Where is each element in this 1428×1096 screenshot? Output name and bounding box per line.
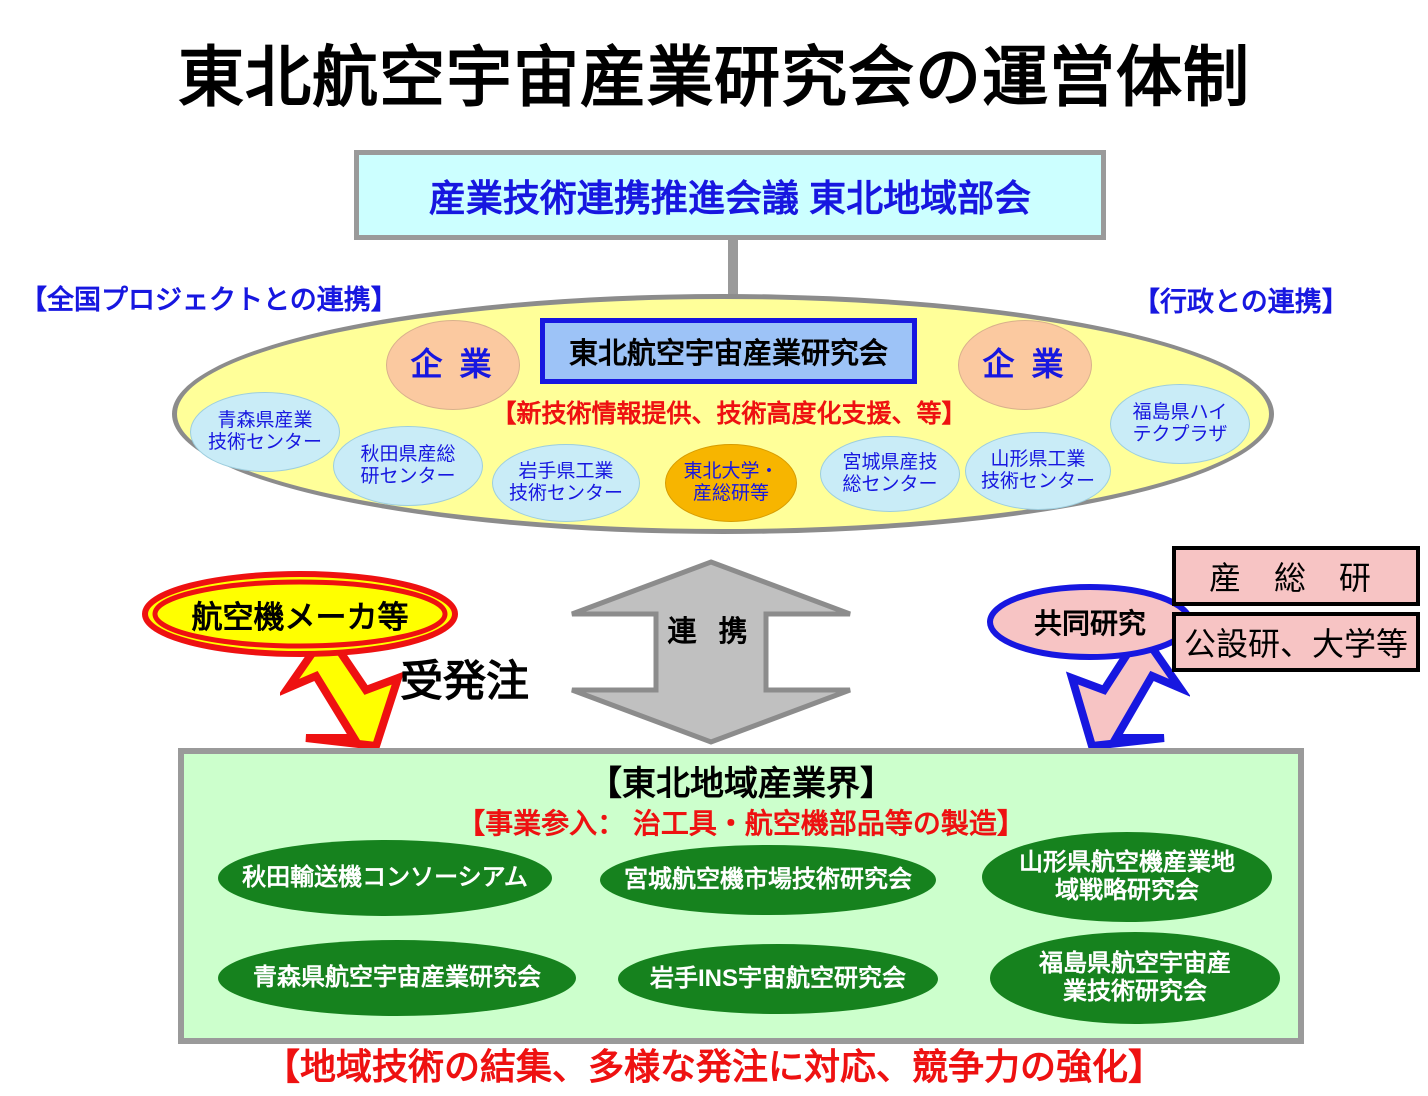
industry-group-label: 岩手INS宇宙航空研究会 xyxy=(650,965,906,993)
institution-line2: 産総研等 xyxy=(693,483,769,504)
institution-line1: 岩手県工業 xyxy=(518,461,613,482)
center-council-label: 東北航空宇宙産業研究会 xyxy=(569,330,888,372)
institution-line2: 技術センター xyxy=(509,483,623,504)
industry-group-iwate: 岩手INS宇宙航空研究会 xyxy=(618,944,938,1014)
institution-line1: 秋田県産総 xyxy=(360,444,455,465)
institution-ellipse-tohoku-university: 東北大学・ 産総研等 xyxy=(665,444,797,522)
public-institutes-box: 公設研、大学等 xyxy=(1172,612,1420,672)
center-council-box: 東北航空宇宙産業研究会 xyxy=(540,318,917,384)
top-council-label: 産業技術連携推進会議 東北地域部会 xyxy=(429,168,1031,222)
page-title: 東北航空宇宙産業研究会の運営体制 xyxy=(0,24,1428,120)
industry-group-line2: 業技術研究会 xyxy=(1063,978,1207,1005)
center-support-note: 【新技術情報提供、技術高度化支援、等】 xyxy=(456,394,1002,430)
aist-label: 産 総 研 xyxy=(1209,553,1383,599)
label-government-link: 【行政との連携】 xyxy=(1133,280,1349,319)
industry-group-line1: 山形県航空機産業地 xyxy=(1019,849,1235,876)
institution-label-yamagata: 山形県工業 技術センター xyxy=(981,449,1095,494)
institution-line2: テクプラザ xyxy=(1132,424,1227,445)
institution-line1: 東北大学・ xyxy=(683,461,778,482)
industry-group-line1: 福島県航空宇宙産 xyxy=(1039,950,1231,977)
institution-ellipse-miyagi: 宮城県産技 総センター xyxy=(820,436,960,512)
industry-group-yamagata: 山形県航空機産業地 域戦略研究会 xyxy=(982,832,1272,922)
institution-line1: 宮城県産技 xyxy=(842,452,937,473)
industry-group-label: 青森県航空宇宙産業研究会 xyxy=(253,964,541,992)
public-institutes-label: 公設研、大学等 xyxy=(1184,619,1408,665)
institution-label-tohoku: 東北大学・ 産総研等 xyxy=(683,461,778,506)
enterprise-label-left: 企 業 xyxy=(411,346,496,384)
liaison-arrow-label: 連 携 xyxy=(566,608,856,650)
industry-group-akita: 秋田輸送機コンソーシアム xyxy=(218,840,552,916)
industry-group-line2: 域戦略研究会 xyxy=(1055,877,1199,904)
institution-line1: 福島県ハイ xyxy=(1133,402,1228,423)
enterprise-label-right: 企 業 xyxy=(983,346,1068,384)
order-arrow-label: 受発注 xyxy=(400,647,529,709)
top-council-box: 産業技術連携推進会議 東北地域部会 xyxy=(354,150,1106,240)
liaison-double-arrow xyxy=(566,558,856,746)
industry-group-miyagi: 宮城航空機市場技術研究会 xyxy=(600,845,936,915)
institution-line1: 山形県工業 xyxy=(990,449,1085,470)
industry-group-label: 秋田輸送機コンソーシアム xyxy=(242,864,528,892)
diagram-canvas: 東北航空宇宙産業研究会の運営体制 産業技術連携推進会議 東北地域部会 【全国プロ… xyxy=(0,0,1428,1096)
institution-line2: 技術センター xyxy=(981,471,1095,492)
institution-ellipse-iwate: 岩手県工業 技術センター xyxy=(492,444,640,522)
institution-ellipse-akita: 秋田県産総 研センター xyxy=(333,426,483,506)
institution-line1: 青森県産業 xyxy=(217,410,312,431)
institution-line2: 研センター xyxy=(360,466,455,487)
industry-group-label: 山形県航空機産業地 域戦略研究会 xyxy=(1019,849,1235,904)
industry-group-aomori: 青森県航空宇宙産業研究会 xyxy=(218,940,576,1016)
institution-label-miyagi: 宮城県産技 総センター xyxy=(842,452,937,497)
institution-ellipse-fukushima: 福島県ハイ テクプラザ xyxy=(1110,384,1250,464)
joint-research-label: 共同研究 xyxy=(985,582,1195,662)
institution-label-fukushima: 福島県ハイ テクプラザ xyxy=(1132,402,1227,447)
label-national-project-link: 【全国プロジェクトとの連携】 xyxy=(20,278,398,317)
industry-group-label: 宮城航空機市場技術研究会 xyxy=(624,866,912,894)
aist-box: 産 総 研 xyxy=(1172,546,1420,606)
industry-slogan: 【地域技術の結集、多様な発注に対応、競争力の強化】 xyxy=(0,1038,1428,1090)
industry-group-fukushima: 福島県航空宇宙産 業技術研究会 xyxy=(990,932,1280,1024)
institution-ellipse-aomori: 青森県産業 技術センター xyxy=(190,392,340,472)
institution-line2: 技術センター xyxy=(208,432,322,453)
institution-line2: 総センター xyxy=(842,474,937,495)
institution-label-iwate: 岩手県工業 技術センター xyxy=(509,461,623,506)
institution-ellipse-yamagata: 山形県工業 技術センター xyxy=(965,432,1111,510)
industry-group-label: 福島県航空宇宙産 業技術研究会 xyxy=(1039,950,1231,1005)
institution-label-akita: 秋田県産総 研センター xyxy=(360,444,455,489)
institution-label-aomori: 青森県産業 技術センター xyxy=(208,410,322,455)
aircraft-maker-label: 航空機メーカ等 xyxy=(140,570,460,658)
industry-title: 【東北地域産業界】 xyxy=(178,756,1304,805)
